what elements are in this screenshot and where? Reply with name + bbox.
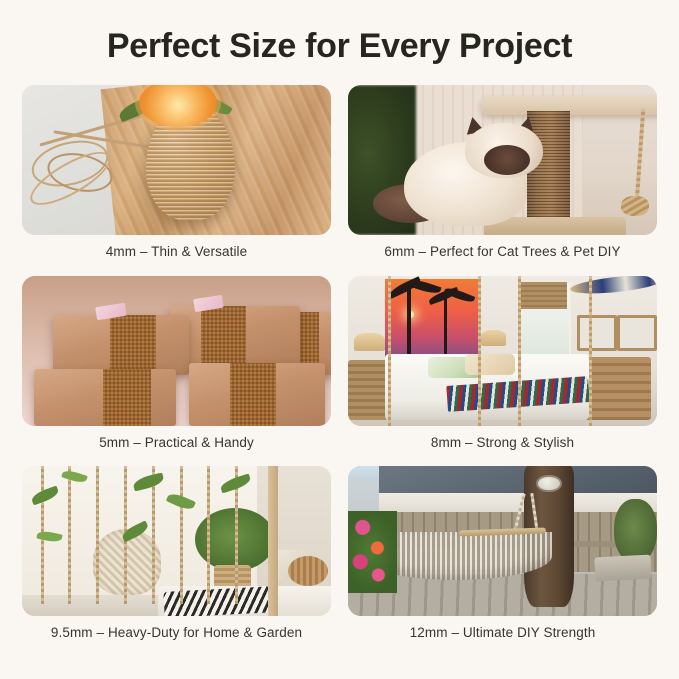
pillow [465, 354, 514, 375]
deck-bench [595, 554, 652, 581]
burlap-band [110, 315, 156, 375]
suspension-rope [478, 276, 481, 426]
palm-trunk [407, 288, 411, 357]
scene-tropical-bedroom [348, 276, 657, 426]
wooden-beam [268, 466, 279, 616]
grid-cell-4mm: 4mm – Thin & Versatile [22, 85, 331, 260]
burlap-band [230, 363, 276, 426]
photo-cat-tree [348, 85, 657, 235]
window-blind [518, 282, 567, 309]
page-title: Perfect Size for Every Project [0, 0, 679, 65]
caption-8mm: 8mm – Strong & Stylish [431, 435, 574, 451]
divider-rope [68, 466, 71, 604]
photo-jute-vase [22, 85, 331, 235]
divider-rope [207, 466, 210, 604]
grid-cell-5mm: 5mm – Practical & Handy [22, 276, 331, 451]
photo-bedroom [348, 276, 657, 426]
wall-mirror [617, 315, 657, 351]
table-lamp [354, 333, 385, 351]
scene-jute-vase [22, 85, 331, 235]
divider-rope [180, 466, 183, 604]
wall-mirror [577, 315, 617, 351]
shrub [614, 499, 657, 562]
infographic-page: Perfect Size for Every Project 4mm – [0, 0, 679, 679]
suspension-rope [589, 276, 592, 426]
caption-6mm: 6mm – Perfect for Cat Trees & Pet DIY [384, 244, 620, 260]
grid-cell-12mm: 12mm – Ultimate DIY Strength [348, 466, 657, 641]
grid-cell-9-5mm: 9.5mm – Heavy-Duty for Home & Garden [22, 466, 331, 641]
grid-cell-8mm: 8mm – Strong & Stylish [348, 276, 657, 451]
surfboard [570, 276, 657, 297]
caption-12mm: 12mm – Ultimate DIY Strength [410, 625, 596, 641]
dresser [583, 357, 651, 420]
photo-hammock [348, 466, 657, 616]
divider-rope [96, 466, 99, 604]
burlap-band [103, 369, 151, 426]
caption-4mm: 4mm – Thin & Versatile [106, 244, 248, 260]
flower-bush [348, 511, 397, 594]
scene-cat-tree [348, 85, 657, 235]
rope-knot [621, 196, 649, 216]
size-grid: 4mm – Thin & Versatile [0, 65, 679, 641]
gift-box [189, 363, 325, 426]
palm-trunk [444, 297, 448, 357]
cushion [288, 556, 328, 586]
scene-deck-hammock [348, 466, 657, 616]
gift-box [170, 306, 300, 366]
suspension-rope [518, 276, 521, 426]
gift-box [53, 315, 189, 375]
photo-gift-boxes [22, 276, 331, 426]
nightstand [348, 360, 388, 420]
scene-rope-divider [22, 466, 331, 616]
caption-5mm: 5mm – Practical & Handy [99, 435, 254, 451]
photo-rope-divider [22, 466, 331, 616]
table-lamp [481, 330, 506, 347]
grid-cell-6mm: 6mm – Perfect for Cat Trees & Pet DIY [348, 85, 657, 260]
scene-gift-boxes [22, 276, 331, 426]
burlap-band [201, 306, 245, 366]
gift-box [34, 369, 176, 426]
caption-9-5mm: 9.5mm – Heavy-Duty for Home & Garden [51, 625, 302, 641]
suspension-rope [388, 276, 391, 426]
hanging-rope [634, 109, 644, 202]
